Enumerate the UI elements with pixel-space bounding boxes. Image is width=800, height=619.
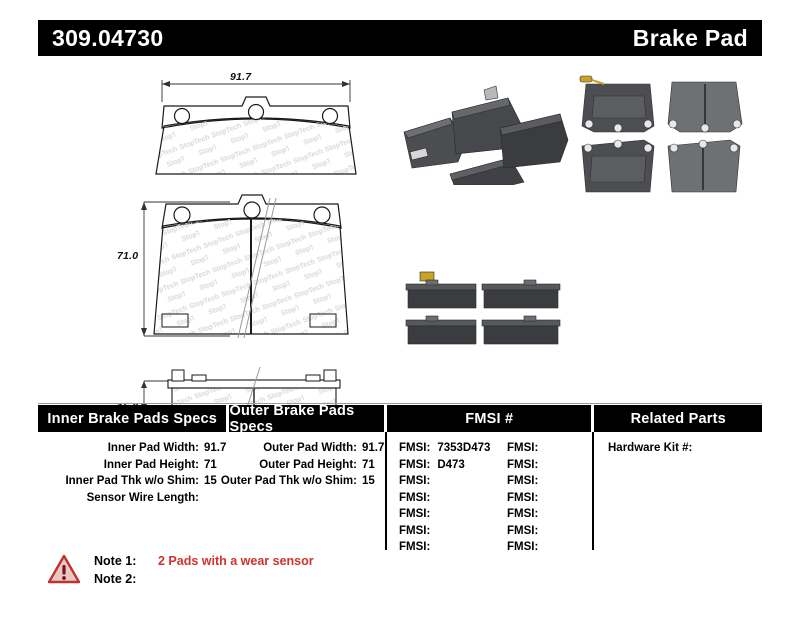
fmsi-row: FMSI: (507, 457, 545, 474)
fmsi-value (430, 473, 437, 490)
fmsi-row: FMSI: (507, 440, 545, 457)
fmsi-value (538, 523, 545, 540)
flat-pad-grid-photo (572, 66, 752, 206)
figure-area: StopTech StopTech 91.7 (0, 58, 800, 388)
table-body: Inner Pad Width: 91.7 Inner Pad Height: … (38, 432, 762, 556)
note-label: Note 2: (94, 570, 150, 588)
main-pad-face-view (110, 188, 360, 373)
fmsi-row: FMSI: D473 (399, 457, 507, 474)
fmsi-label: FMSI: (507, 506, 538, 523)
spec-row: Outer Pad Thk w/o Shim: 15 (227, 473, 385, 490)
spec-label: Inner Pad Thk w/o Shim: (65, 473, 199, 490)
spec-value: 71 (357, 457, 385, 474)
fmsi-value (430, 523, 437, 540)
fmsi-label: FMSI: (399, 506, 430, 523)
header-bar: 309.04730 Brake Pad (38, 20, 762, 56)
fmsi-label: FMSI: (507, 539, 538, 556)
fmsi-value (538, 490, 545, 507)
fmsi-subcolumn-2: FMSI: FMSI: FMSI: FMSI: (507, 440, 545, 556)
spec-label: Sensor Wire Length: (87, 490, 199, 507)
fmsi-label: FMSI: (507, 490, 538, 507)
fmsi-column: FMSI: 7353D473 FMSI: D473 FMSI: FMSI: (387, 432, 592, 556)
fmsi-value (430, 506, 437, 523)
fmsi-value (538, 440, 545, 457)
fmsi-row: FMSI: (507, 490, 545, 507)
fmsi-row: FMSI: (399, 539, 507, 556)
fmsi-row: FMSI: (399, 506, 507, 523)
related-parts-column: Hardware Kit #: (594, 432, 762, 556)
fmsi-value (538, 539, 545, 556)
fmsi-label: FMSI: (399, 523, 430, 540)
fmsi-value: 7353D473 (430, 440, 490, 457)
warning-triangle-icon (48, 554, 80, 584)
header-outer-specs: Outer Brake Pads Specs (229, 405, 384, 432)
spec-label: Outer Pad Thk w/o Shim: (221, 473, 357, 490)
fmsi-value: D473 (430, 457, 465, 474)
spec-value (199, 490, 227, 507)
top-pad-face-view: StopTech StopTech (150, 66, 370, 176)
spec-value: 91.7 (199, 440, 227, 457)
fmsi-label: FMSI: (507, 457, 538, 474)
part-number: 309.04730 (52, 25, 163, 52)
notes-section: Note 1: 2 Pads with a wear sensor Note 2… (48, 552, 314, 588)
spec-row: Outer Pad Width: 91.7 (227, 440, 385, 457)
spec-row: Sensor Wire Length: (38, 490, 227, 507)
fmsi-value (430, 490, 437, 507)
fmsi-label: FMSI: (399, 473, 430, 490)
spec-row: Inner Pad Thk w/o Shim: 15 (38, 473, 227, 490)
note-row: Note 1: 2 Pads with a wear sensor (94, 552, 314, 570)
note-rows: Note 1: 2 Pads with a wear sensor Note 2… (94, 552, 314, 588)
note-row: Note 2: (94, 570, 314, 588)
spec-row: Outer Pad Height: 71 (227, 457, 385, 474)
height-dimension-label: 71.0 (117, 250, 138, 262)
spec-value: 71 (199, 457, 227, 474)
fmsi-row: FMSI: (399, 523, 507, 540)
related-part-row: Hardware Kit #: (608, 440, 762, 457)
note-text (150, 570, 158, 588)
width-dimension-label: 91.7 (230, 71, 251, 83)
fmsi-row: FMSI: 7353D473 (399, 440, 507, 457)
spec-row: Inner Pad Width: 91.7 (38, 440, 227, 457)
fmsi-row: FMSI: (507, 506, 545, 523)
fmsi-value (538, 473, 545, 490)
fmsi-subcolumn-1: FMSI: 7353D473 FMSI: D473 FMSI: FMSI: (399, 440, 507, 556)
fmsi-label: FMSI: (399, 457, 430, 474)
outer-specs-column: Outer Pad Width: 91.7 Outer Pad Height: … (227, 432, 385, 556)
fmsi-value (538, 506, 545, 523)
spec-label: Inner Pad Width: (108, 440, 199, 457)
spec-label: Outer Pad Width: (263, 440, 357, 457)
fmsi-row: FMSI: (507, 523, 545, 540)
fmsi-row: FMSI: (507, 539, 545, 556)
inner-specs-column: Inner Pad Width: 91.7 Inner Pad Height: … (38, 432, 227, 556)
spec-value: 15 (357, 473, 385, 490)
fmsi-label: FMSI: (399, 539, 430, 556)
fmsi-row: FMSI: (507, 473, 545, 490)
product-type-label: Brake Pad (633, 25, 748, 52)
fmsi-label: FMSI: (507, 473, 538, 490)
spec-row: Inner Pad Height: 71 (38, 457, 227, 474)
fmsi-label: FMSI: (399, 440, 430, 457)
fmsi-value (430, 539, 437, 556)
table-header-row: Inner Brake Pads Specs Outer Brake Pads … (38, 405, 762, 432)
spec-table: Inner Brake Pads Specs Outer Brake Pads … (38, 405, 762, 556)
fmsi-label: FMSI: (507, 440, 538, 457)
fmsi-row: FMSI: (399, 473, 507, 490)
fmsi-label: FMSI: (507, 523, 538, 540)
header-fmsi: FMSI # (387, 405, 591, 432)
edge-view-pads-photo (396, 256, 576, 366)
fmsi-value (538, 457, 545, 474)
spec-value: 91.7 (357, 440, 385, 457)
note-label: Note 1: (94, 552, 150, 570)
header-related-parts: Related Parts (594, 405, 762, 432)
fmsi-row: FMSI: (399, 490, 507, 507)
fmsi-label: FMSI: (399, 490, 430, 507)
spec-label: Outer Pad Height: (259, 457, 357, 474)
note-text: 2 Pads with a wear sensor (150, 552, 314, 570)
header-inner-specs: Inner Brake Pads Specs (38, 405, 226, 432)
table-top-border (38, 403, 762, 404)
angled-pad-set-photo (392, 70, 572, 185)
spec-label: Inner Pad Height: (104, 457, 199, 474)
